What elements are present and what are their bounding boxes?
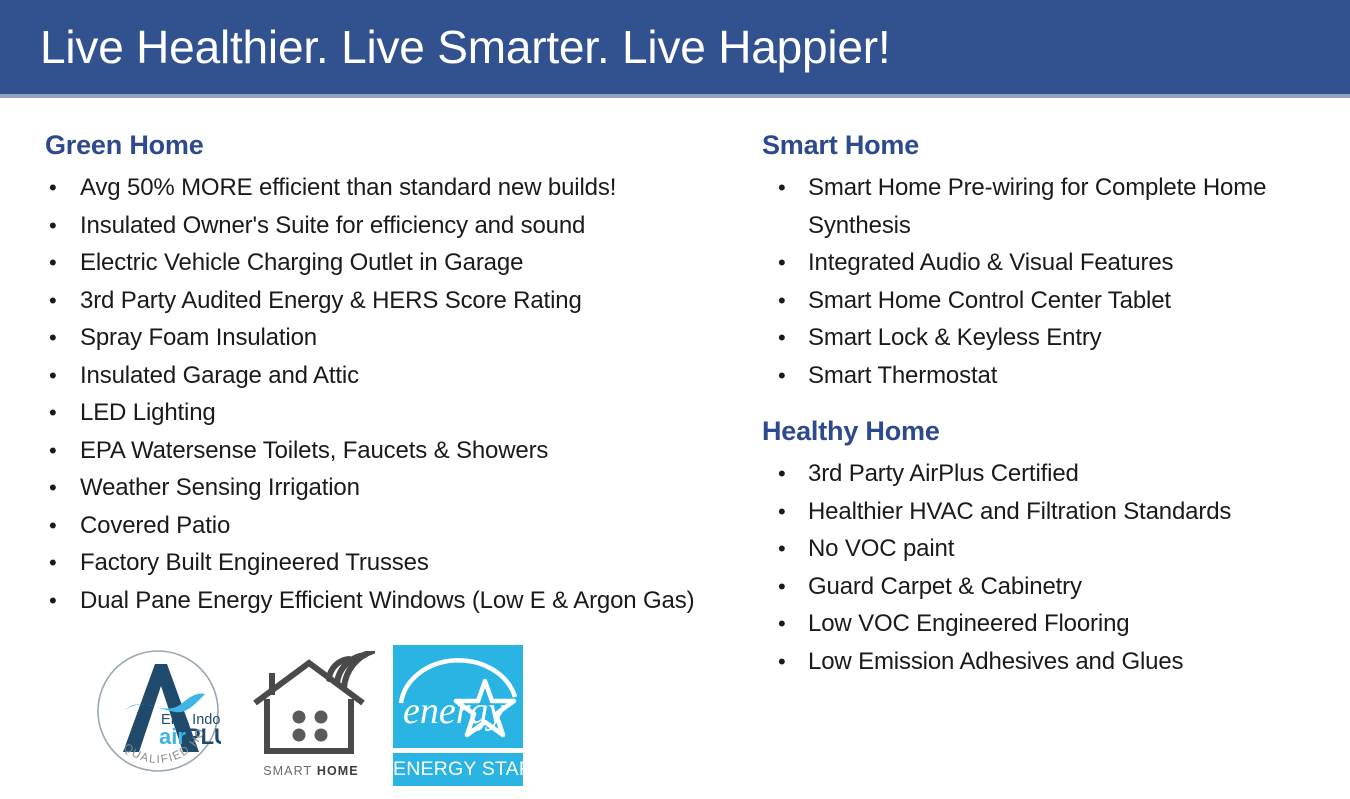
- healthy-home-feature-list: 3rd Party AirPlus Certified Healthier HV…: [762, 455, 1322, 680]
- list-item: Spray Foam Insulation: [45, 319, 765, 357]
- list-item: Smart Home Control Center Tablet: [762, 282, 1322, 320]
- smart-home-feature-list: Smart Home Pre-wiring for Complete Home …: [762, 169, 1322, 394]
- right-column: Smart Home Smart Home Pre-wiring for Com…: [762, 130, 1322, 680]
- list-item: Smart Thermostat: [762, 357, 1322, 395]
- smart-home-caption-bold: HOME: [317, 764, 359, 778]
- section-heading-smart-home: Smart Home: [762, 130, 1322, 161]
- list-item: Healthier HVAC and Filtration Standards: [762, 493, 1322, 531]
- header-divider: [0, 94, 1350, 98]
- list-item: 3rd Party AirPlus Certified: [762, 455, 1322, 493]
- energy-star-top-panel: energy: [393, 645, 523, 748]
- list-item: Integrated Audio & Visual Features: [762, 244, 1322, 282]
- page-title: Live Healthier. Live Smarter. Live Happi…: [40, 8, 1320, 86]
- smart-home-section: Smart Home Smart Home Pre-wiring for Com…: [762, 130, 1322, 394]
- smart-home-caption: SMART HOME: [247, 764, 375, 778]
- list-item: Smart Home Pre-wiring for Complete Home …: [762, 169, 1322, 244]
- smart-home-icon: SMART HOME: [247, 651, 375, 791]
- list-item: Dual Pane Energy Efficient Windows (Low …: [45, 582, 765, 620]
- list-item: Smart Lock & Keyless Entry: [762, 319, 1322, 357]
- section-heading-healthy-home: Healthy Home: [762, 416, 1322, 447]
- list-item: LED Lighting: [45, 394, 765, 432]
- list-item: Avg 50% MORE efficient than standard new…: [45, 169, 765, 207]
- list-item: Low Emission Adhesives and Glues: [762, 643, 1322, 681]
- left-column: Green Home Avg 50% MORE efficient than s…: [45, 130, 765, 619]
- airplus-air: air: [159, 724, 186, 749]
- smart-home-caption-light: SMART: [263, 764, 312, 778]
- list-item: Electric Vehicle Charging Outlet in Gara…: [45, 244, 765, 282]
- energy-star-wordmark: ENERGY STAR: [393, 753, 523, 786]
- list-item: Insulated Garage and Attic: [45, 357, 765, 395]
- list-item: EPA Watersense Toilets, Faucets & Shower…: [45, 432, 765, 470]
- list-item: Factory Built Engineered Trusses: [45, 544, 765, 582]
- healthy-home-section: Healthy Home 3rd Party AirPlus Certified…: [762, 416, 1322, 680]
- energy-star-icon: energy ENERGY STAR: [393, 645, 523, 786]
- section-heading-green-home: Green Home: [45, 130, 765, 161]
- epa-indoor-airplus-icon: EPA Indoor airPLUS QUALIFIED HOME: [95, 648, 221, 774]
- list-item: Guard Carpet & Cabinetry: [762, 568, 1322, 606]
- list-item: 3rd Party Audited Energy & HERS Score Ra…: [45, 282, 765, 320]
- list-item: No VOC paint: [762, 530, 1322, 568]
- certification-logo-row: EPA Indoor airPLUS QUALIFIED HOME: [95, 645, 545, 795]
- list-item: Low VOC Engineered Flooring: [762, 605, 1322, 643]
- green-home-feature-list: Avg 50% MORE efficient than standard new…: [45, 169, 765, 619]
- list-item: Weather Sensing Irrigation: [45, 469, 765, 507]
- list-item: Insulated Owner's Suite for efficiency a…: [45, 207, 765, 245]
- list-item: Covered Patio: [45, 507, 765, 545]
- energy-script-word: energy: [403, 690, 505, 732]
